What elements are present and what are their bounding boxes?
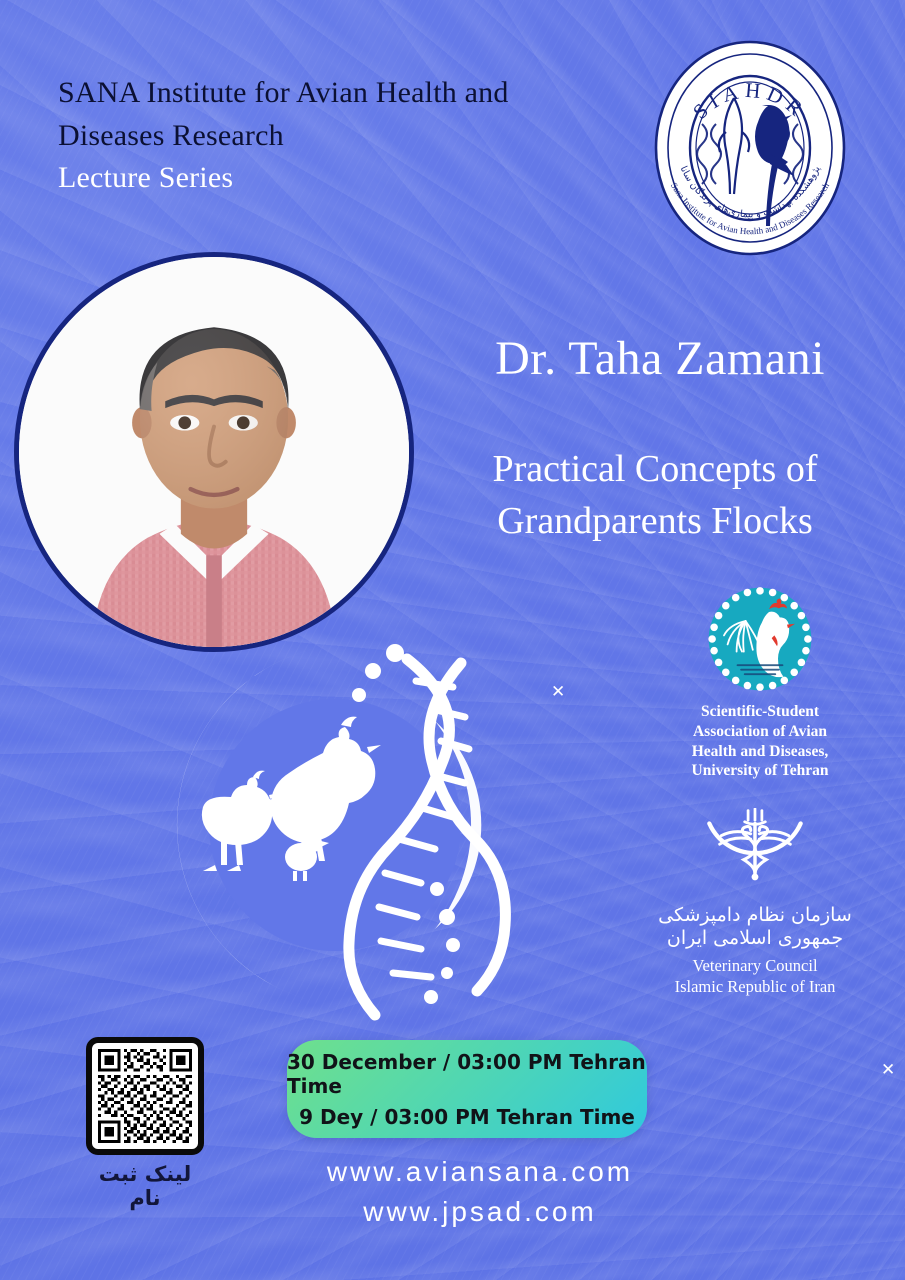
registration-block: لینک ثبت نام xyxy=(80,1037,210,1210)
org-caption-line-3: Health and Diseases, xyxy=(660,742,860,762)
siahdr-seal-logo: SIAHDR پژوهشکده بهداشت و بیماری‌های پرند… xyxy=(630,28,870,268)
registration-caption: لینک ثبت نام xyxy=(80,1162,210,1210)
org-caption: Scientific-Student Association of Avian … xyxy=(660,702,860,781)
event-poster: SANA Institute for Avian Health and Dise… xyxy=(0,0,905,1280)
caduceus-logo xyxy=(699,808,811,894)
header-line-2: Diseases Research xyxy=(58,115,618,158)
org-caption-line-1: Veterinary Council xyxy=(630,955,880,976)
schedule-gregorian: 30 December / 03:00 PM Tehran Time xyxy=(287,1050,647,1098)
org-caption-line-2: Association of Avian xyxy=(660,722,860,742)
website-link-aviansana[interactable]: www.aviansana.com xyxy=(245,1152,715,1192)
org-caption-line-1: Scientific-Student xyxy=(660,702,860,722)
talk-title-line-2: Grandparents Flocks xyxy=(410,495,900,547)
org-veterinary-council: سازمان نظام دامپزشکی جمهوری اسلامی ایران… xyxy=(630,808,880,997)
chicken-dna-emblem xyxy=(135,625,535,1025)
website-link-jpsad[interactable]: www.jpsad.com xyxy=(245,1192,715,1232)
registration-qr-code[interactable] xyxy=(86,1037,204,1155)
decorative-x-icon: ✕ xyxy=(881,1060,895,1080)
poster-header: SANA Institute for Avian Health and Dise… xyxy=(58,72,618,200)
org-caption-en: Veterinary Council Islamic Republic of I… xyxy=(630,955,880,998)
org-caption-fa: سازمان نظام دامپزشکی جمهوری اسلامی ایران xyxy=(630,904,880,950)
header-line-1: SANA Institute for Avian Health and xyxy=(58,72,618,115)
talk-title: Practical Concepts of Grandparents Flock… xyxy=(410,443,900,548)
org-caption-line-4: University of Tehran xyxy=(660,761,860,781)
header-line-3: Lecture Series xyxy=(58,157,618,200)
rooster-logo xyxy=(706,585,814,693)
decorative-x-icon: ✕ xyxy=(551,682,565,702)
org-scientific-student-association: Scientific-Student Association of Avian … xyxy=(660,585,860,781)
org-caption-line-2: Islamic Republic of Iran xyxy=(630,976,880,997)
website-list: www.aviansana.com www.jpsad.com xyxy=(245,1152,715,1232)
speaker-name: Dr. Taha Zamani xyxy=(420,333,900,386)
talk-title-line-1: Practical Concepts of xyxy=(410,443,900,495)
schedule-badge: 30 December / 03:00 PM Tehran Time 9 Dey… xyxy=(287,1040,647,1138)
schedule-persian: 9 Dey / 03:00 PM Tehran Time xyxy=(299,1105,635,1129)
speaker-portrait xyxy=(14,252,414,652)
